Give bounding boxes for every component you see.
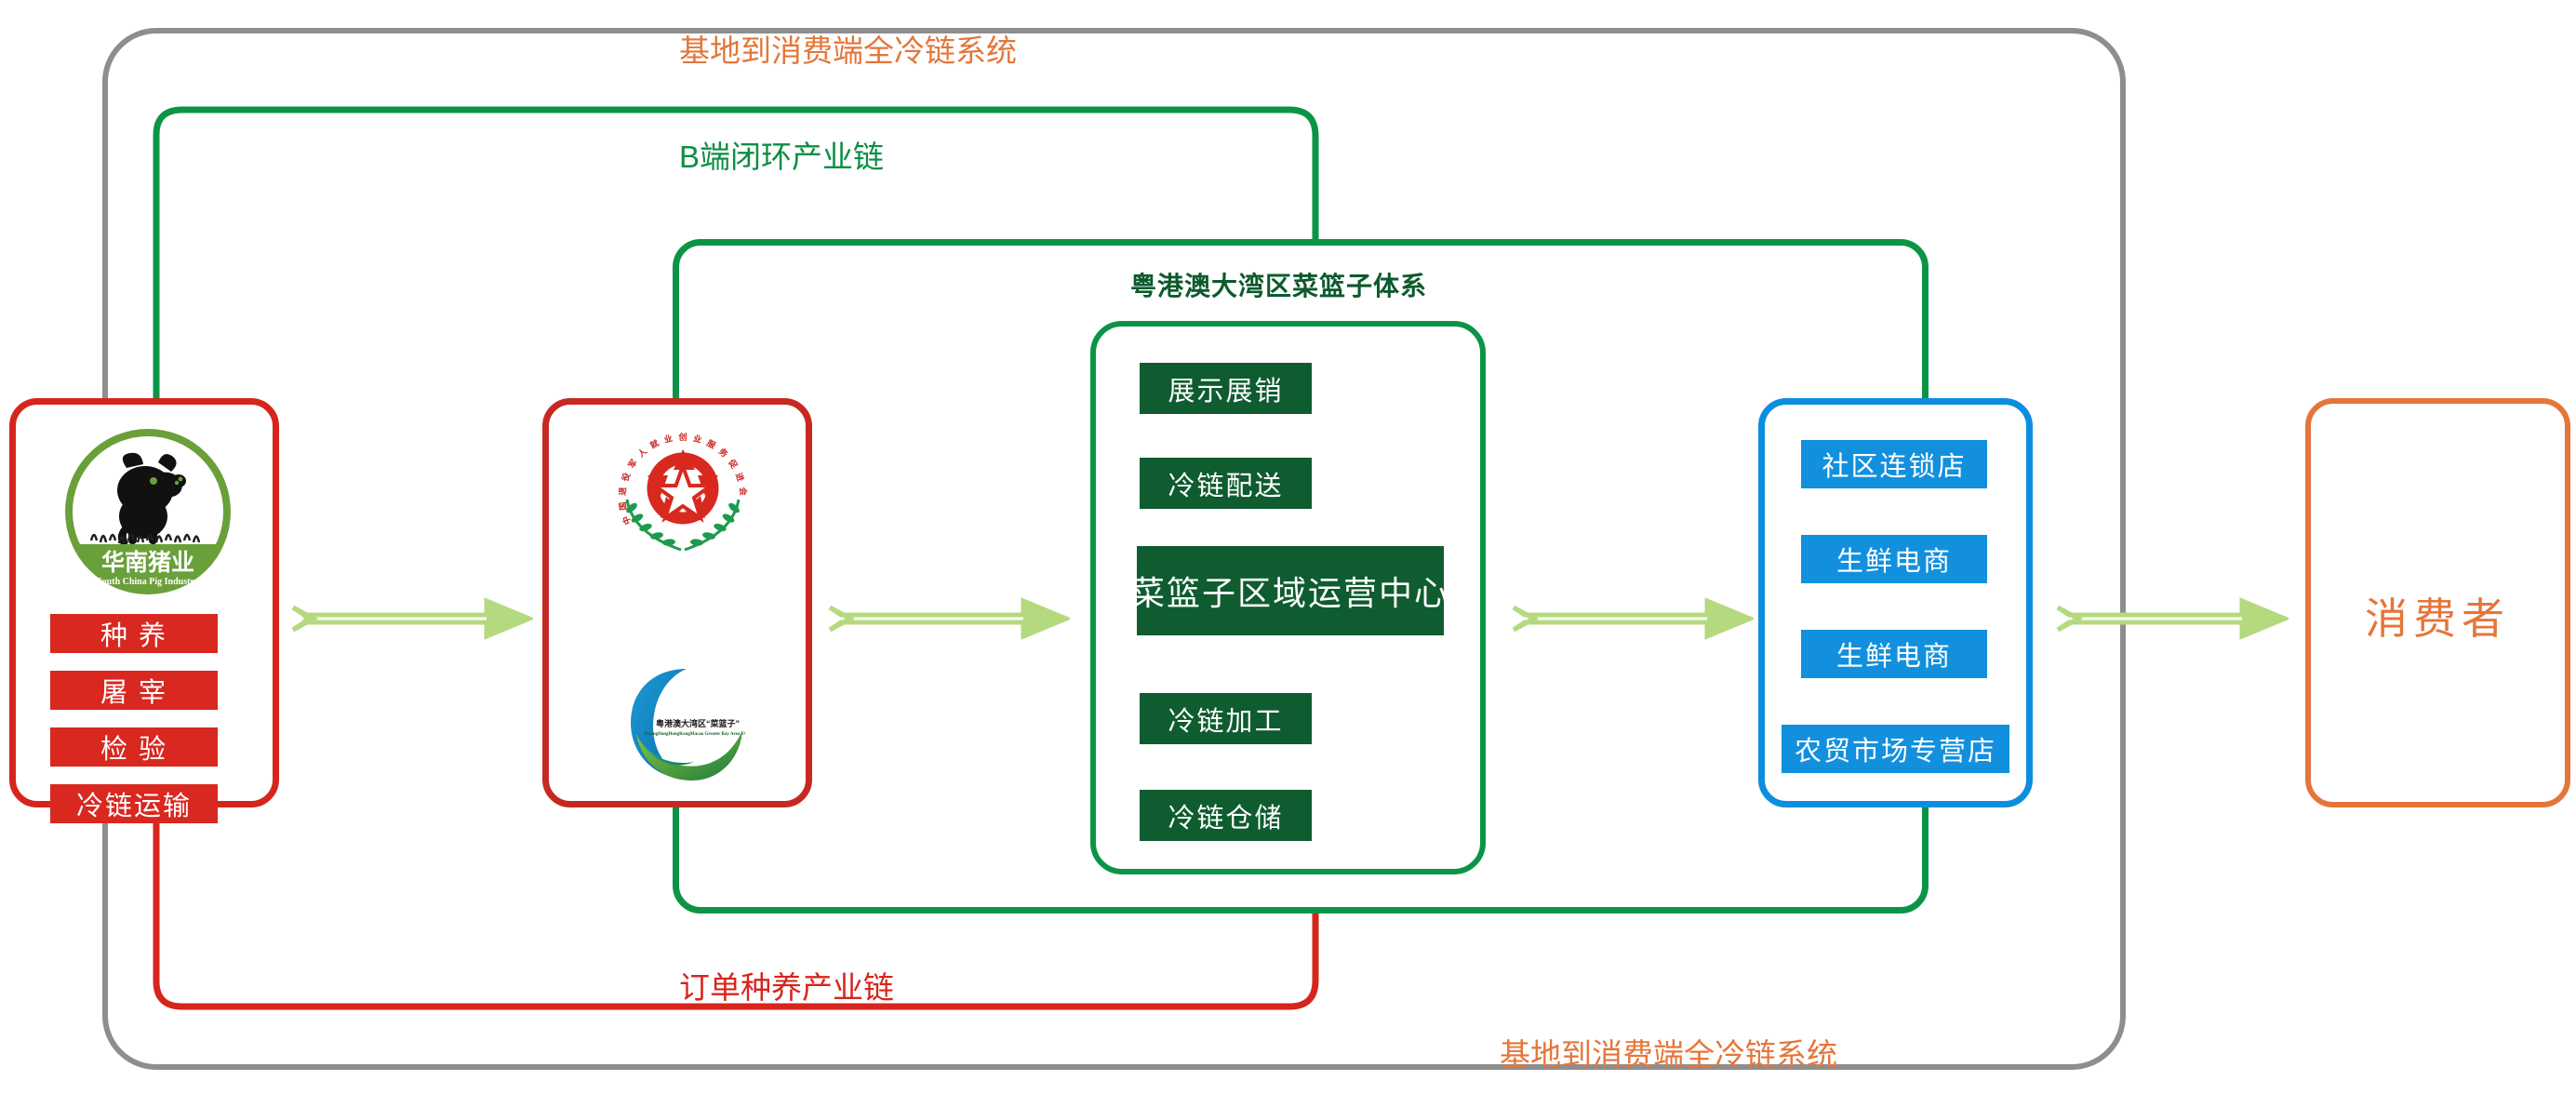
basket-chip-3[interactable]: 冷链加工 xyxy=(1140,693,1312,744)
svg-text:业: 业 xyxy=(692,433,702,445)
production-chip-0[interactable]: 种 养 xyxy=(50,614,218,653)
outer-label-top: 基地到消费端全冷链系统 xyxy=(679,26,1017,71)
arrow-certification-to-basket xyxy=(828,595,1070,642)
production-chip-3[interactable]: 冷链运输 xyxy=(50,784,218,823)
arrow-basket-to-retail xyxy=(1512,595,1754,642)
svg-text:服: 服 xyxy=(705,438,718,451)
svg-text:GuangDongHongKongMacao Greater: GuangDongHongKongMacao Greater Bay Area … xyxy=(645,732,745,737)
svg-text:退: 退 xyxy=(618,487,628,496)
consumer-label: 消费者 xyxy=(2365,585,2510,647)
basket-chip-4[interactable]: 冷链仓储 xyxy=(1140,790,1312,841)
svg-text:业: 业 xyxy=(662,433,673,445)
retail-channel-card[interactable]: 社区连锁店 生鲜电商 生鲜电商 农贸市场专营店 xyxy=(1758,398,2033,807)
diagram-canvas: 基地到消费端全冷链系统 基地到消费端全冷链系统 B端闭环产业链 订单种养产业链 … xyxy=(0,0,2576,1094)
retail-chip-2[interactable]: 生鲜电商 xyxy=(1801,630,1987,678)
arrow-production-to-certification xyxy=(291,595,533,642)
south-china-pig-industry-logo: 华南猪业 South China Pig Industry xyxy=(60,423,236,600)
retail-chip-1[interactable]: 生鲜电商 xyxy=(1801,535,1987,583)
svg-text:创: 创 xyxy=(677,432,687,442)
green-loop-label: B端闭环产业链 xyxy=(679,132,884,177)
arrow-retail-to-consumer xyxy=(2056,595,2289,642)
svg-text:促: 促 xyxy=(727,457,741,471)
retail-chip-3[interactable]: 农贸市场专营店 xyxy=(1782,725,2009,773)
production-chip-2[interactable]: 检 验 xyxy=(50,727,218,767)
basket-chip-1[interactable]: 冷链配送 xyxy=(1140,458,1312,509)
svg-text:粤港澳大湾区“菜篮子”: 粤港澳大湾区“菜篮子” xyxy=(656,718,740,728)
logo-cn-text: 华南猪业 xyxy=(101,549,194,576)
svg-text:务: 务 xyxy=(717,446,731,460)
consumer-card[interactable]: 消费者 xyxy=(2305,398,2570,807)
svg-text:中: 中 xyxy=(620,514,633,526)
retail-chip-0[interactable]: 社区连锁店 xyxy=(1801,440,1987,488)
logo-en-text: South China Pig Industry xyxy=(97,577,199,587)
production-chip-1[interactable]: 屠 宰 xyxy=(50,671,218,710)
svg-text:人: 人 xyxy=(634,446,649,460)
veterans-service-association-emblem: 中 国 退 役 军 人 就 业 创 业 服 务 促 进 会 xyxy=(607,421,760,575)
basket-system-title: 粤港澳大湾区菜篮子体系 xyxy=(1130,266,1427,303)
svg-text:会: 会 xyxy=(738,487,749,497)
certification-card[interactable]: 中 国 退 役 军 人 就 业 创 业 服 务 促 进 会 xyxy=(542,398,812,807)
greater-bay-area-vegetable-basket-logo: 粤港澳大湾区“菜篮子” GuangDongHongKongMacao Great… xyxy=(629,661,745,787)
svg-text:就: 就 xyxy=(648,437,661,450)
svg-text:军: 军 xyxy=(626,458,638,470)
outer-label-bottom: 基地到消费端全冷链系统 xyxy=(1500,1030,1837,1074)
red-loop-label: 订单种养产业链 xyxy=(679,963,894,1007)
basket-chip-0[interactable]: 展示展销 xyxy=(1140,363,1312,414)
svg-text:进: 进 xyxy=(734,471,746,482)
production-base-card[interactable]: 华南猪业 South China Pig Industry 种 养 屠 宰 检 … xyxy=(9,398,279,807)
svg-text:役: 役 xyxy=(619,471,632,484)
basket-chip-operations-center[interactable]: 菜篮子区域运营中心 xyxy=(1137,546,1444,635)
